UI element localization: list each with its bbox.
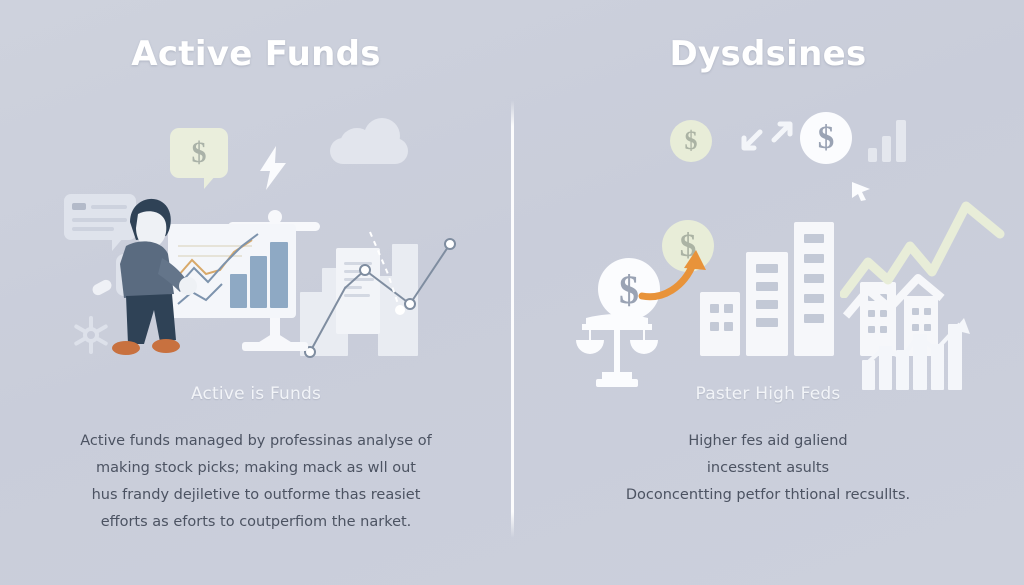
window xyxy=(756,282,778,291)
window xyxy=(804,294,824,303)
board-bar-3 xyxy=(270,242,288,308)
balance-scale-icon xyxy=(574,304,660,388)
dollar-glyph: $ xyxy=(685,126,698,156)
window xyxy=(724,322,733,331)
right-panel: Dysdsines $ $ $ xyxy=(512,0,1024,585)
left-illustration: $ xyxy=(0,96,512,376)
left-panel-body: Active funds managed by professinas anal… xyxy=(46,428,466,536)
left-panel-subheading: Active is Funds xyxy=(0,384,512,404)
board-bar-2 xyxy=(250,256,267,308)
body-line: efforts as eforts to coutperfiom the nar… xyxy=(46,509,466,536)
window xyxy=(724,304,733,313)
dollar-glyph: $ xyxy=(818,120,835,157)
body-line: hus frandy dejiletive to outforme thas r… xyxy=(46,482,466,509)
signal-bars-icon xyxy=(868,120,912,162)
window xyxy=(756,264,778,273)
body-line: Higher fes aid galiend xyxy=(558,428,978,455)
body-line: incesstent asults xyxy=(558,455,978,482)
body-line: Doconcentting petfor thtional recsullts. xyxy=(558,482,978,509)
left-panel: Active Funds xyxy=(0,0,512,585)
zigzag-trend-line-icon xyxy=(840,188,1010,298)
window xyxy=(804,254,824,263)
dollar-glyph: $ xyxy=(170,128,228,178)
double-arrow-icon xyxy=(740,118,794,154)
person-presenter-illustration xyxy=(96,184,204,368)
window xyxy=(756,300,778,309)
window xyxy=(710,322,719,331)
dollar-coin-white-icon: $ xyxy=(800,112,852,164)
lightning-bolt-icon xyxy=(258,146,288,190)
infographic-canvas: Active Funds xyxy=(0,0,1024,585)
window xyxy=(804,314,824,323)
right-panel-title: Dysdsines xyxy=(512,34,1024,74)
window xyxy=(756,318,778,327)
body-line: making stock picks; making mack as wll o… xyxy=(46,455,466,482)
buildings-skyline-icon xyxy=(700,292,740,356)
cursor-arrow-icon xyxy=(850,180,872,202)
window xyxy=(804,234,824,243)
cloud-icon xyxy=(330,118,408,164)
board-bar-1 xyxy=(230,274,247,308)
dollar-coin-small-icon: $ xyxy=(670,120,712,162)
right-panel-body: Higher fes aid galiend incesstent asults… xyxy=(558,428,978,509)
growth-bar-chart-icon xyxy=(860,318,976,394)
window xyxy=(804,274,824,283)
left-panel-title: Active Funds xyxy=(0,34,512,74)
window xyxy=(710,304,719,313)
dollar-speech-bubble-icon: $ xyxy=(170,128,228,178)
body-line: Active funds managed by professinas anal… xyxy=(46,428,466,455)
